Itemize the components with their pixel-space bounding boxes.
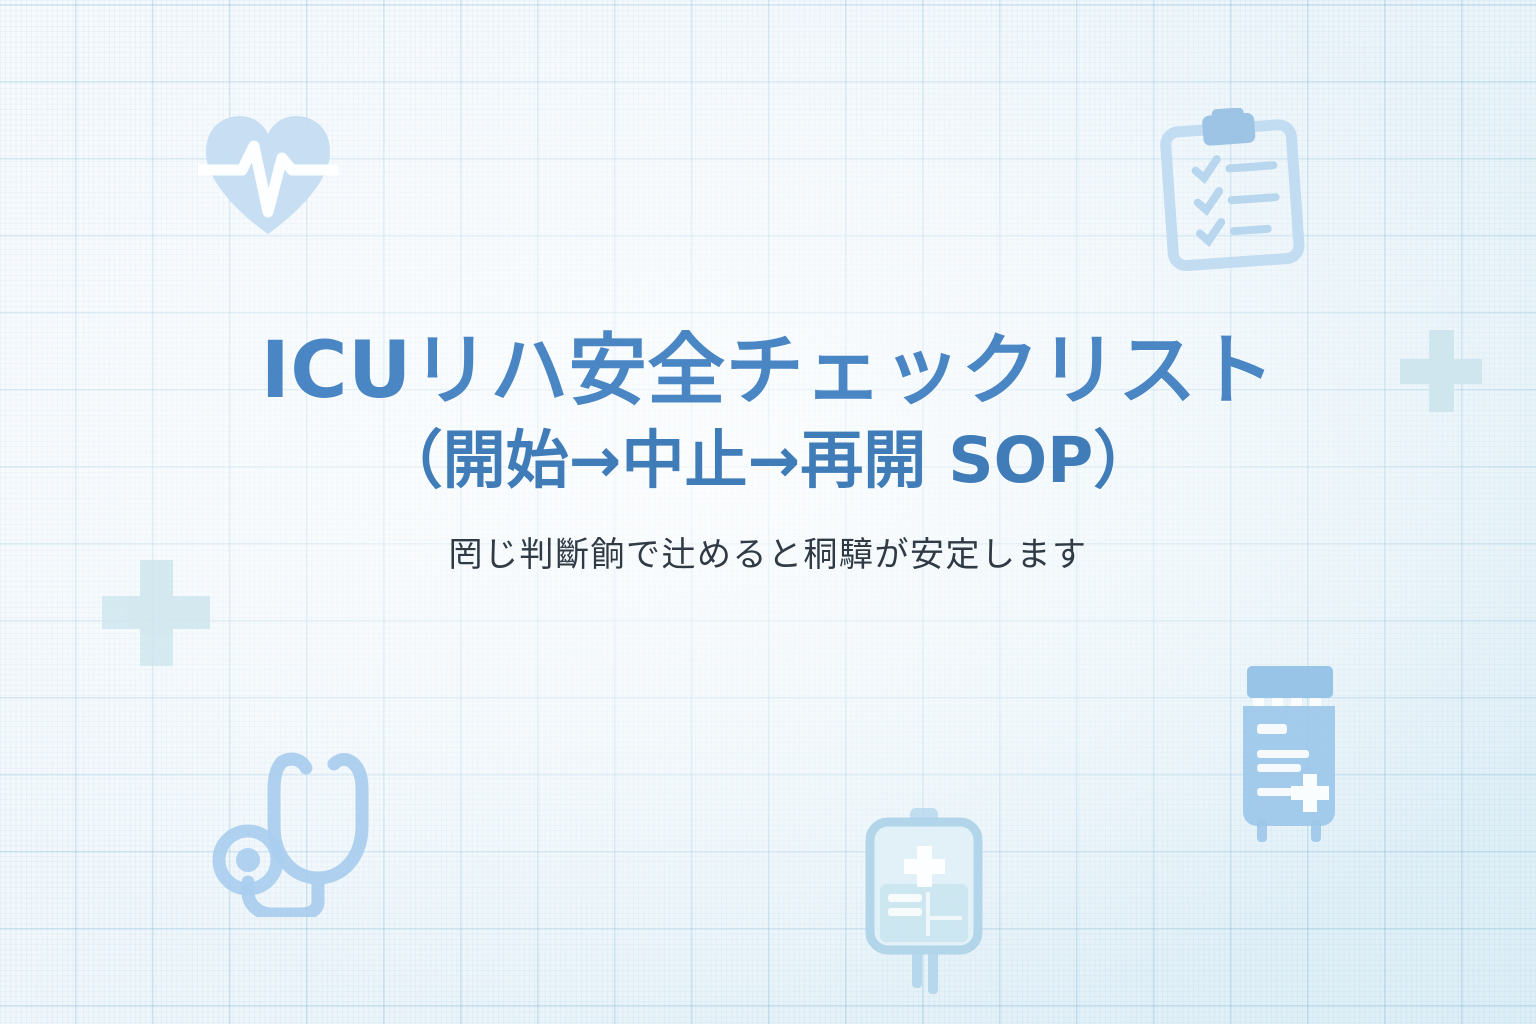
hero-text-block: ICUリハ安全チェックリスト （開始→中止→再開 SOP） 罔じ判斷餉で辻めると…: [0, 330, 1536, 577]
hero-canvas: ICUリハ安全チェックリスト （開始→中止→再開 SOP） 罔じ判斷餉で辻めると…: [0, 0, 1536, 1024]
iv-bag-icon: [862, 806, 987, 994]
clipboard-checklist-icon: [1155, 108, 1315, 273]
page-subtitle: （開始→中止→再開 SOP）: [0, 427, 1536, 495]
medicine-bottle-icon: [1233, 662, 1355, 847]
stethoscope-icon: [196, 742, 401, 917]
page-tagline: 罔じ判斷餉で辻めると秱騿が安定します: [0, 533, 1536, 577]
heart-pulse-icon: [198, 108, 338, 238]
page-title: ICUリハ安全チェックリスト: [0, 330, 1536, 413]
